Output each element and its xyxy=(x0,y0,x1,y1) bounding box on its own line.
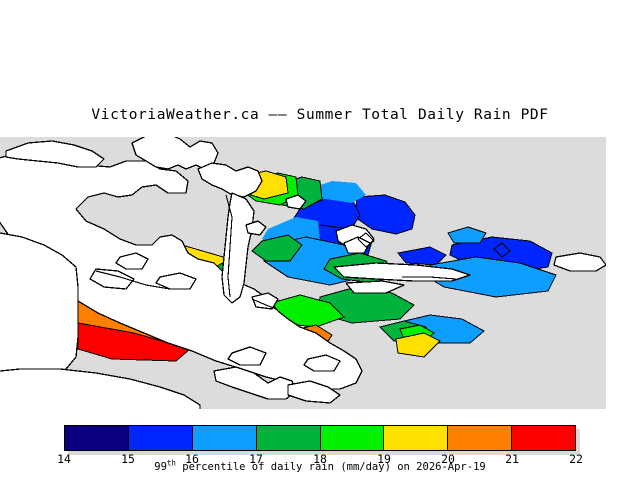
colorbar-band-21-22 xyxy=(512,426,575,450)
caption-prefix: 99 xyxy=(154,461,167,473)
colorbar-band-18-19 xyxy=(321,426,385,450)
colorbar-band-17-18 xyxy=(257,426,321,450)
colorbar-bands xyxy=(64,425,576,451)
colorbar-caption: 99th percentile of daily rain (mm/day) o… xyxy=(0,461,640,473)
caption-superscript: th xyxy=(167,459,176,468)
colorbar-band-14-15 xyxy=(65,426,129,450)
colorbar xyxy=(64,425,576,451)
colorbar-band-15-16 xyxy=(129,426,193,450)
caption-suffix: percentile of daily rain (mm/day) on 202… xyxy=(176,461,486,473)
map-canvas[interactable] xyxy=(0,137,606,409)
colorbar-band-20-21 xyxy=(448,426,512,450)
colorbar-band-16-17 xyxy=(193,426,257,450)
page-title: VictoriaWeather.ca —— Summer Total Daily… xyxy=(0,107,640,123)
colorbar-band-19-20 xyxy=(384,426,448,450)
map-panel[interactable] xyxy=(0,137,606,409)
weather-map-figure: VictoriaWeather.ca —— Summer Total Daily… xyxy=(0,0,640,480)
